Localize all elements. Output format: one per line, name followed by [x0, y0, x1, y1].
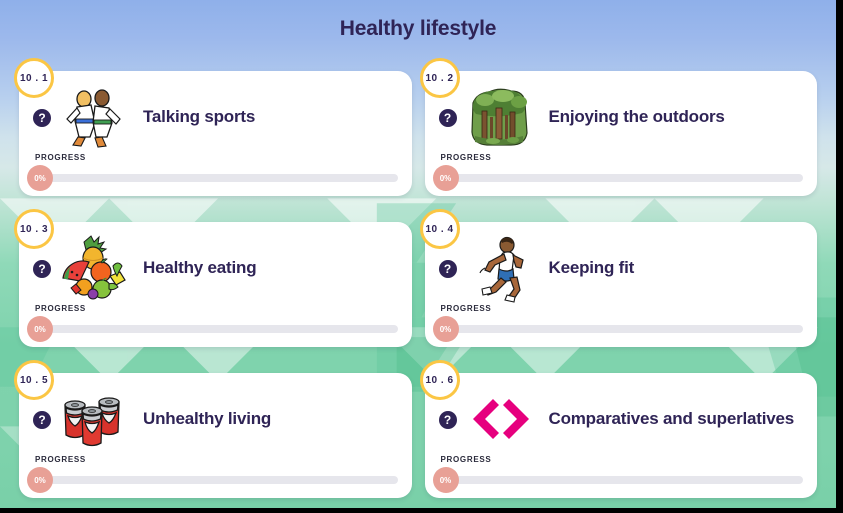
- lesson-title: Unhealthy living: [143, 408, 271, 429]
- lesson-card-wrapper: 10 . 2 ?: [425, 58, 818, 196]
- lesson-card-enjoying-the-outdoors[interactable]: ?: [425, 71, 818, 196]
- progress-track: [47, 174, 398, 182]
- progress-block: PROGRESS 0%: [33, 153, 398, 188]
- help-icon[interactable]: ?: [439, 411, 457, 429]
- lesson-number-badge: 10 . 6: [420, 360, 460, 400]
- lesson-number-badge: 10 . 1: [14, 58, 54, 98]
- lesson-title: Keeping fit: [549, 257, 635, 278]
- progress-value: 0%: [433, 316, 459, 342]
- help-icon[interactable]: ?: [439, 260, 457, 278]
- progress-label: PROGRESS: [441, 455, 804, 464]
- card-body: ?: [33, 383, 398, 455]
- progress-block: PROGRESS 0%: [439, 153, 804, 188]
- progress-track: [47, 476, 398, 484]
- progress-value: 0%: [27, 467, 53, 493]
- lesson-title: Healthy eating: [143, 257, 256, 278]
- progress-bar[interactable]: 0%: [439, 470, 804, 490]
- help-icon[interactable]: ?: [33, 411, 51, 429]
- fruit-basket-image: [57, 232, 129, 304]
- progress-label: PROGRESS: [441, 304, 804, 313]
- lesson-title: Talking sports: [143, 106, 255, 127]
- progress-label: PROGRESS: [35, 304, 398, 313]
- progress-bar[interactable]: 0%: [439, 319, 804, 339]
- progress-bar[interactable]: 0%: [439, 168, 804, 188]
- lesson-card-comparatives-and-superlatives[interactable]: ? Comparatives and superlatives PROGRESS: [425, 373, 818, 498]
- progress-block: PROGRESS 0%: [439, 455, 804, 490]
- card-body: ?: [33, 81, 398, 153]
- help-icon[interactable]: ?: [439, 109, 457, 127]
- progress-track: [453, 325, 804, 333]
- help-icon[interactable]: ?: [33, 260, 51, 278]
- lesson-unit-page: Healthy lifestyle 10 . 1 ?: [0, 0, 843, 513]
- lesson-card-keeping-fit[interactable]: ?: [425, 222, 818, 347]
- angle-brackets-icon: [463, 383, 535, 455]
- progress-block: PROGRESS 0%: [439, 304, 804, 339]
- lesson-card-unhealthy-living[interactable]: ?: [19, 373, 412, 498]
- progress-label: PROGRESS: [35, 455, 398, 464]
- progress-label: PROGRESS: [35, 153, 398, 162]
- lesson-number-badge: 10 . 3: [14, 209, 54, 249]
- progress-track: [453, 174, 804, 182]
- card-body: ?: [33, 232, 398, 304]
- page-header: Healthy lifestyle: [0, 0, 836, 58]
- lesson-card-wrapper: 10 . 6 ? Comparatives and superlatives P…: [425, 360, 818, 498]
- progress-block: PROGRESS 0%: [33, 304, 398, 339]
- soda-cans-image: [57, 383, 129, 455]
- lesson-title: Enjoying the outdoors: [549, 106, 725, 127]
- progress-label: PROGRESS: [441, 153, 804, 162]
- progress-value: 0%: [27, 165, 53, 191]
- lesson-title: Comparatives and superlatives: [549, 408, 795, 429]
- card-body: ?: [439, 81, 804, 153]
- help-icon[interactable]: ?: [33, 109, 51, 127]
- progress-value: 0%: [433, 467, 459, 493]
- lesson-number-badge: 10 . 2: [420, 58, 460, 98]
- judo-sports-image: [57, 81, 129, 153]
- progress-track: [453, 476, 804, 484]
- lesson-card-wrapper: 10 . 1 ?: [19, 58, 412, 196]
- page-title: Healthy lifestyle: [340, 17, 497, 41]
- card-body: ?: [439, 232, 804, 304]
- lesson-number-badge: 10 . 4: [420, 209, 460, 249]
- progress-value: 0%: [27, 316, 53, 342]
- progress-block: PROGRESS 0%: [33, 455, 398, 490]
- progress-bar[interactable]: 0%: [33, 319, 398, 339]
- lesson-card-wrapper: 10 . 4 ?: [425, 209, 818, 347]
- lesson-card-wrapper: 10 . 3 ?: [19, 209, 412, 347]
- progress-bar[interactable]: 0%: [33, 168, 398, 188]
- lesson-card-healthy-eating[interactable]: ?: [19, 222, 412, 347]
- lesson-card-grid: 10 . 1 ?: [0, 58, 836, 498]
- lesson-card-wrapper: 10 . 5 ?: [19, 360, 412, 498]
- progress-track: [47, 325, 398, 333]
- lesson-card-talking-sports[interactable]: ?: [19, 71, 412, 196]
- forest-outdoors-image: [463, 81, 535, 153]
- lesson-number-badge: 10 . 5: [14, 360, 54, 400]
- progress-bar[interactable]: 0%: [33, 470, 398, 490]
- card-body: ? Comparatives and superlatives: [439, 383, 804, 455]
- progress-value: 0%: [433, 165, 459, 191]
- running-person-image: [463, 232, 535, 304]
